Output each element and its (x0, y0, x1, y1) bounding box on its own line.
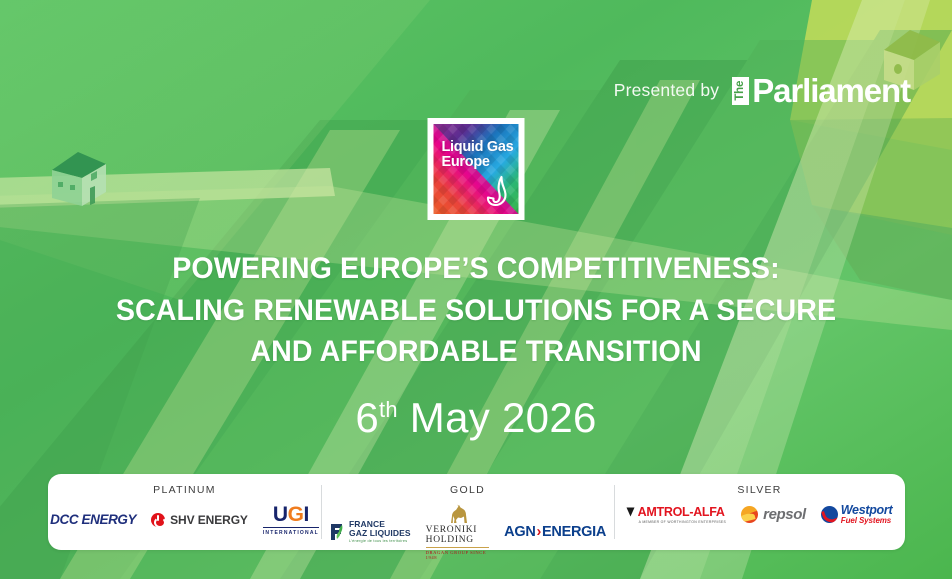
triangle-icon (626, 507, 634, 516)
france-gaz-liquides-text: FRANCE GAZ LIQUIDES L’énergie de tous le… (349, 520, 411, 543)
swoosh-icon (821, 506, 838, 523)
sponsor-tier-silver: SILVER AMTROL-ALFA A MEMBER OF WORTHINGT… (614, 474, 905, 550)
ugi-wordmark: UGI (273, 504, 309, 525)
westport-text: Westport Fuel Systems (841, 504, 893, 525)
sponsor-tier-gold: GOLD FRANCE GAZ LIQUIDES L’énergie de to… (321, 474, 614, 550)
sponsor-logo-france-gaz-liquides[interactable]: FRANCE GAZ LIQUIDES L’énergie de tous le… (329, 520, 411, 543)
sponsor-logo-veroniki-holding[interactable]: VERONIKI HOLDING DRAGAN GROUP SINCE 1948 (426, 504, 490, 560)
platinum-logos: DCC ENERGY SHV ENERGY UGI INTERNATIONAL (48, 504, 321, 536)
agn-part-1: AGN (504, 525, 535, 540)
ugi-letter-g: G (288, 503, 304, 526)
logo-text: Liquid Gas Europe (442, 140, 514, 171)
agn-part-2: ENERGIA (542, 525, 606, 540)
westport-line-2: Fuel Systems (841, 517, 893, 525)
westport-line-1: Westport (841, 504, 893, 517)
liquid-gas-europe-logo: Liquid Gas Europe (428, 118, 525, 220)
event-date: 6th May 2026 (0, 394, 952, 442)
headline-line-3: AND AFFORDABLE TRANSITION (40, 331, 913, 373)
veroniki-name: VERONIKI HOLDING (426, 525, 490, 545)
shv-energy-label: SHV ENERGY (170, 514, 248, 526)
parliament-the-badge: The (732, 77, 749, 105)
ugi-subtitle: INTERNATIONAL (263, 527, 319, 536)
power-icon (151, 513, 165, 527)
sponsor-logo-agn-energia[interactable]: AGN›ENERGIA (504, 525, 606, 540)
sponsor-logo-repsol[interactable]: repsol (741, 506, 806, 523)
amtrol-row: AMTROL-ALFA (627, 505, 725, 519)
repsol-flame-icon (741, 506, 758, 523)
tier-label-silver: SILVER (737, 484, 781, 496)
tier-label-gold: GOLD (450, 484, 485, 496)
event-date-rest: May 2026 (398, 394, 597, 441)
ugi-letter-u: U (273, 503, 288, 526)
amtrol-alfa-subtitle: A MEMBER OF WORTHINGTON ENTERPRISES (639, 520, 726, 524)
sponsor-logo-ugi-international[interactable]: UGI INTERNATIONAL (263, 504, 319, 536)
event-date-ordinal: th (379, 397, 398, 422)
presented-by: Presented by The Parliament (614, 74, 910, 107)
parliament-logo: The Parliament (732, 74, 910, 107)
amtrol-alfa-label: AMTROL-ALFA (638, 505, 725, 519)
horse-icon (443, 504, 471, 524)
gold-logos: FRANCE GAZ LIQUIDES L’énergie de tous le… (321, 504, 614, 560)
tier-label-platinum: PLATINUM (153, 484, 216, 496)
veroniki-subtitle: DRAGAN GROUP SINCE 1948 (426, 547, 490, 560)
sponsor-logo-westport-fuel-systems[interactable]: Westport Fuel Systems (821, 504, 893, 525)
sponsor-logo-amtrol-alfa[interactable]: AMTROL-ALFA A MEMBER OF WORTHINGTON ENTE… (627, 505, 726, 524)
headline-line-2: SCALING RENEWABLE SOLUTIONS FOR A SECURE (40, 290, 913, 332)
sponsor-card: PLATINUM DCC ENERGY SHV ENERGY UGI INTER… (48, 474, 905, 550)
parliament-the-text: The (735, 81, 747, 101)
event-banner: Presented by The Parliament (0, 0, 952, 579)
flame-droplet-icon (485, 175, 511, 207)
fgl-line-2: GAZ LIQUIDES (349, 529, 411, 538)
presented-by-label: Presented by (614, 80, 720, 101)
event-date-day: 6 (355, 394, 379, 441)
sponsor-logo-shv-energy[interactable]: SHV ENERGY (151, 513, 248, 527)
repsol-label: repsol (763, 506, 806, 523)
headline-line-1: POWERING EUROPE’S COMPETITIVENESS: (40, 248, 913, 290)
fgl-tagline: L’énergie de tous les territoires (349, 539, 411, 543)
logo-artwork: Liquid Gas Europe (434, 124, 519, 214)
page-title: POWERING EUROPE’S COMPETITIVENESS: SCALI… (0, 248, 952, 373)
silver-logos: AMTROL-ALFA A MEMBER OF WORTHINGTON ENTE… (614, 504, 905, 525)
leaf-icon (329, 523, 345, 541)
ugi-letter-i: I (303, 503, 308, 526)
parliament-wordmark: Parliament (752, 74, 910, 107)
sponsor-tier-platinum: PLATINUM DCC ENERGY SHV ENERGY UGI INTER… (48, 474, 321, 550)
sponsor-logo-dcc-energy[interactable]: DCC ENERGY (50, 513, 136, 527)
logo-line-2: Europe (442, 155, 514, 170)
